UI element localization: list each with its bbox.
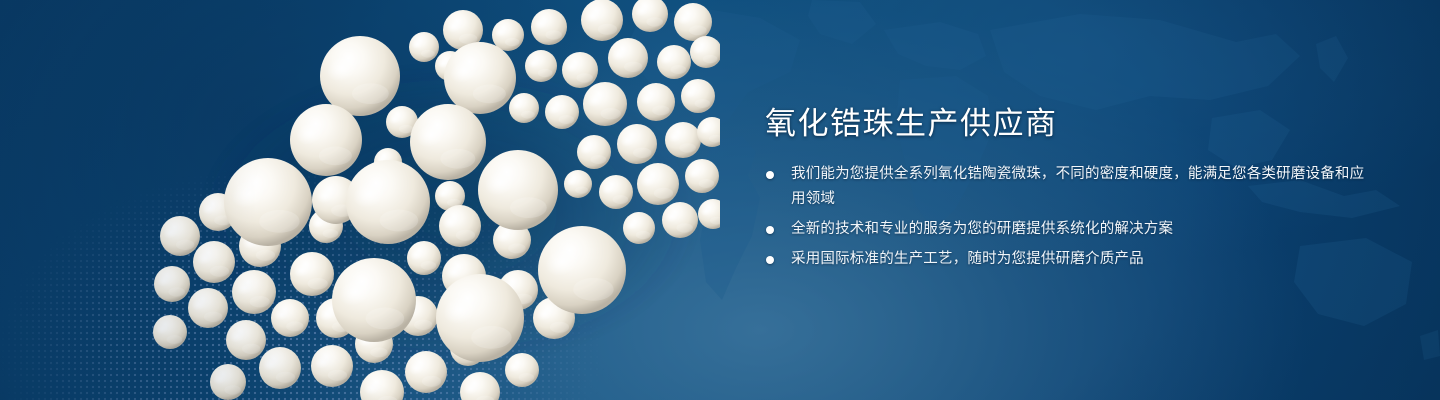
hero-banner: 氧化锆珠生产供应商 我们能为您提供全系列氧化锆陶瓷微珠，不同的密度和硬度，能满足… [0,0,1440,400]
bullet-dot-icon [766,171,774,179]
page-title: 氧化锆珠生产供应商 [765,104,1365,144]
list-item: 全新的技术和专业的服务为您的研磨提供系统化的解决方案 [765,217,1365,242]
list-item-text: 全新的技术和专业的服务为您的研磨提供系统化的解决方案 [791,221,1173,237]
list-item: 采用国际标准的生产工艺，随时为您提供研磨介质产品 [765,247,1365,272]
list-item-text: 我们能为您提供全系列氧化锆陶瓷微珠，不同的密度和硬度，能满足您各类研磨设备和应用… [791,166,1364,207]
list-item-text: 采用国际标准的生产工艺，随时为您提供研磨介质产品 [791,251,1144,267]
list-item: 我们能为您提供全系列氧化锆陶瓷微珠，不同的密度和硬度，能满足您各类研磨设备和应用… [765,162,1365,212]
banner-copy: 氧化锆珠生产供应商 我们能为您提供全系列氧化锆陶瓷微珠，不同的密度和硬度，能满足… [765,104,1365,277]
bullet-dot-icon [766,256,774,264]
bullet-dot-icon [766,226,774,234]
feature-list: 我们能为您提供全系列氧化锆陶瓷微珠，不同的密度和硬度，能满足您各类研磨设备和应用… [765,162,1365,272]
